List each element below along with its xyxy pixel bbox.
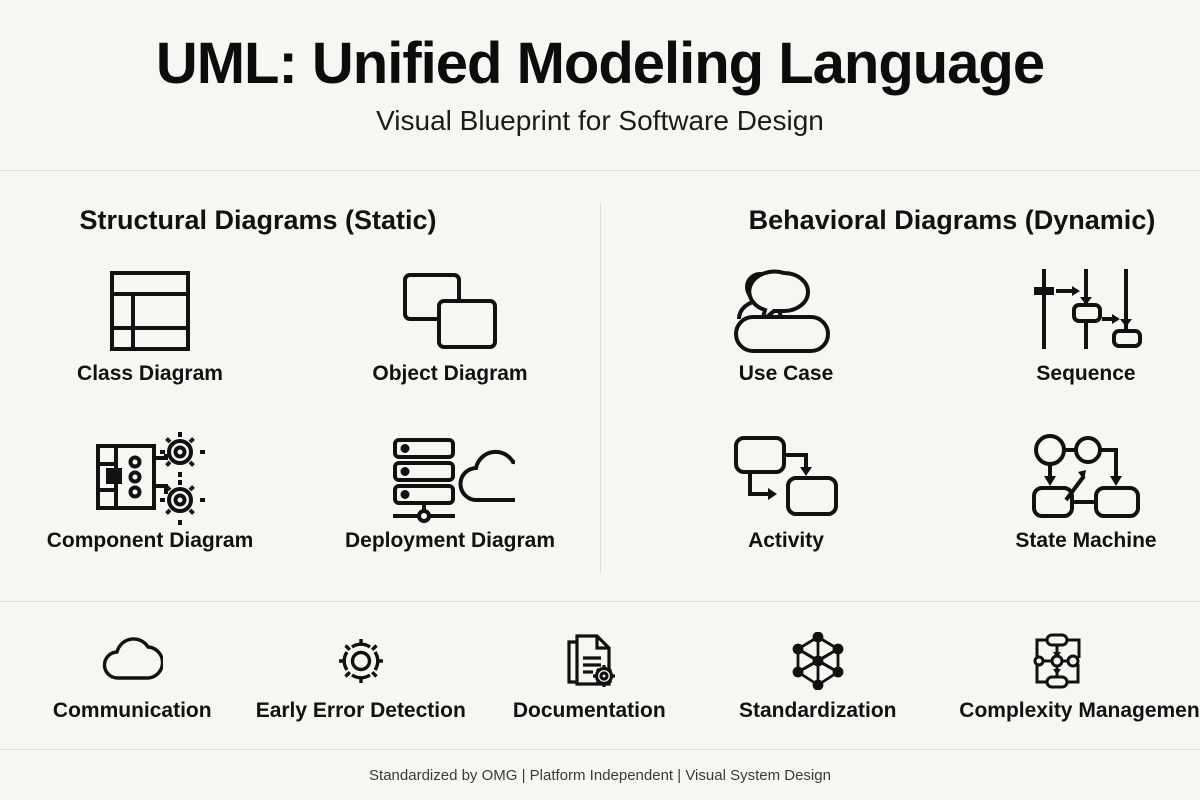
footer: Standardized by OMG | Platform Independe… [0, 750, 1200, 800]
diagram-sections: Structural Diagrams (Static) Class Diagr… [0, 171, 1200, 602]
diagram-label: Activity [748, 529, 824, 553]
section-divider [600, 203, 601, 573]
component-diagram-icon [90, 423, 210, 533]
diagram-item-use-case[interactable]: Use Case [636, 256, 936, 419]
section-behavioral-title: Behavioral Diagrams (Dynamic) [749, 205, 1156, 236]
benefit-standardization[interactable]: Standardization [704, 629, 933, 723]
benefit-label: Complexity Management [959, 699, 1200, 723]
diagram-label: Class Diagram [77, 362, 223, 386]
class-diagram-icon [100, 256, 200, 366]
benefit-label: Documentation [513, 699, 666, 723]
benefit-communication[interactable]: Communication [18, 629, 247, 723]
diagram-item-component[interactable]: Component Diagram [0, 423, 300, 586]
header: UML: Unified Modeling Language Visual Bl… [0, 0, 1200, 171]
section-behavioral: Behavioral Diagrams (Dynamic) Use Case [600, 171, 1200, 601]
section-structural: Structural Diagrams (Static) Class Diagr… [0, 171, 600, 601]
structural-grid: Class Diagram Object Diagram [0, 256, 600, 586]
behavioral-grid: Use Case [636, 256, 1200, 586]
infographic-page: UML: Unified Modeling Language Visual Bl… [0, 0, 1200, 800]
use-case-icon [726, 256, 846, 366]
diagram-label: Object Diagram [372, 362, 527, 386]
page-subtitle: Visual Blueprint for Software Design [376, 107, 824, 135]
diagram-item-class[interactable]: Class Diagram [0, 256, 300, 419]
deployment-diagram-icon [385, 423, 515, 533]
page-title: UML: Unified Modeling Language [156, 35, 1044, 93]
benefit-documentation[interactable]: Documentation [475, 629, 704, 723]
flowchart-icon [1029, 629, 1085, 693]
diagram-item-activity[interactable]: Activity [636, 423, 936, 586]
diagram-item-deployment[interactable]: Deployment Diagram [300, 423, 600, 586]
benefit-complexity-management[interactable]: Complexity Management [932, 629, 1182, 723]
section-structural-title: Structural Diagrams (Static) [79, 205, 436, 236]
diagram-label: State Machine [1015, 529, 1156, 553]
diagram-item-state-machine[interactable]: State Machine [936, 423, 1200, 586]
benefit-label: Standardization [739, 699, 897, 723]
benefit-early-error-detection[interactable]: Early Error Detection [247, 629, 476, 723]
diagram-item-object[interactable]: Object Diagram [300, 256, 600, 419]
cloud-icon [101, 629, 163, 693]
diagram-label: Use Case [739, 362, 834, 386]
benefit-label: Early Error Detection [256, 699, 466, 723]
diagram-item-sequence[interactable]: Sequence [936, 256, 1200, 419]
gear-icon [334, 629, 388, 693]
benefits-row: Communication Early Error Detection [0, 602, 1200, 750]
diagram-label: Sequence [1036, 362, 1135, 386]
activity-icon [726, 423, 846, 533]
diagram-label: Component Diagram [47, 529, 254, 553]
footer-text: Standardized by OMG | Platform Independe… [369, 767, 831, 784]
network-nodes-icon [790, 629, 846, 693]
object-diagram-icon [395, 256, 505, 366]
document-gear-icon [561, 629, 617, 693]
sequence-icon [1026, 256, 1146, 366]
benefit-label: Communication [53, 699, 212, 723]
state-machine-icon [1026, 423, 1146, 533]
diagram-label: Deployment Diagram [345, 529, 555, 553]
